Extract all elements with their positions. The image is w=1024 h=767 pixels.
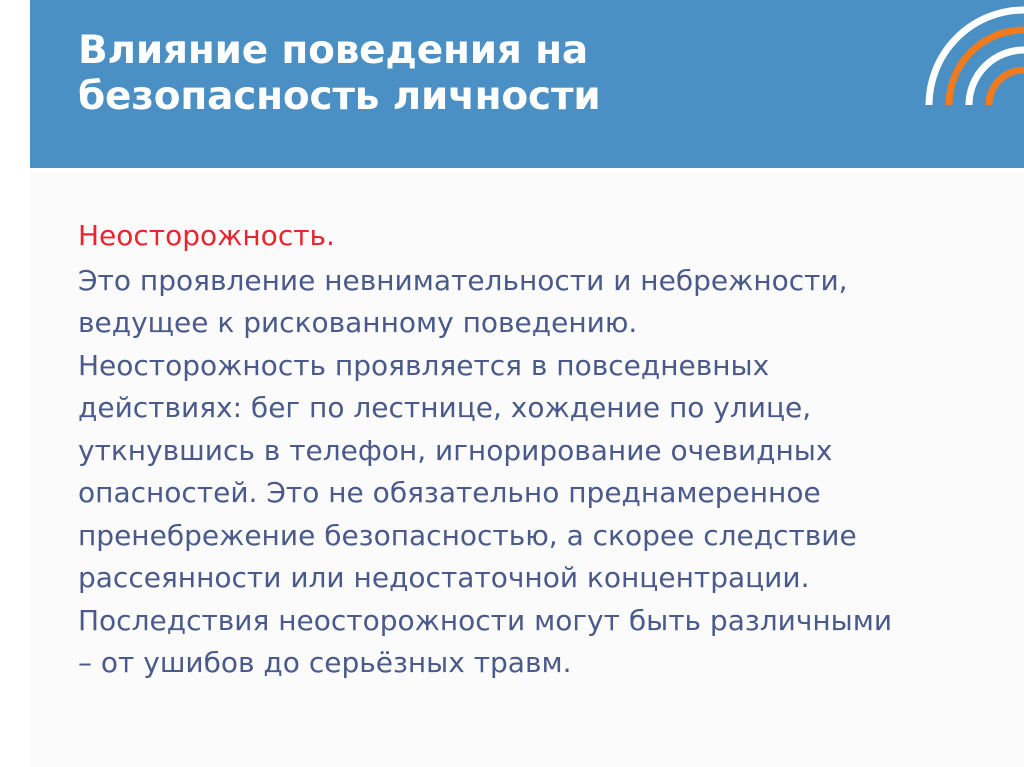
header-divider [30, 168, 1024, 173]
slide-content: Неосторожность. Это проявление невнимате… [78, 215, 978, 685]
slide: Влияние поведения на безопасность личнос… [0, 0, 1024, 767]
lead-term: Неосторожность. [78, 215, 978, 258]
left-margin-strip [0, 0, 30, 767]
page-title: Влияние поведения на безопасность личнос… [78, 28, 918, 120]
body-paragraph: Это проявление невнимательности и небреж… [78, 260, 978, 685]
